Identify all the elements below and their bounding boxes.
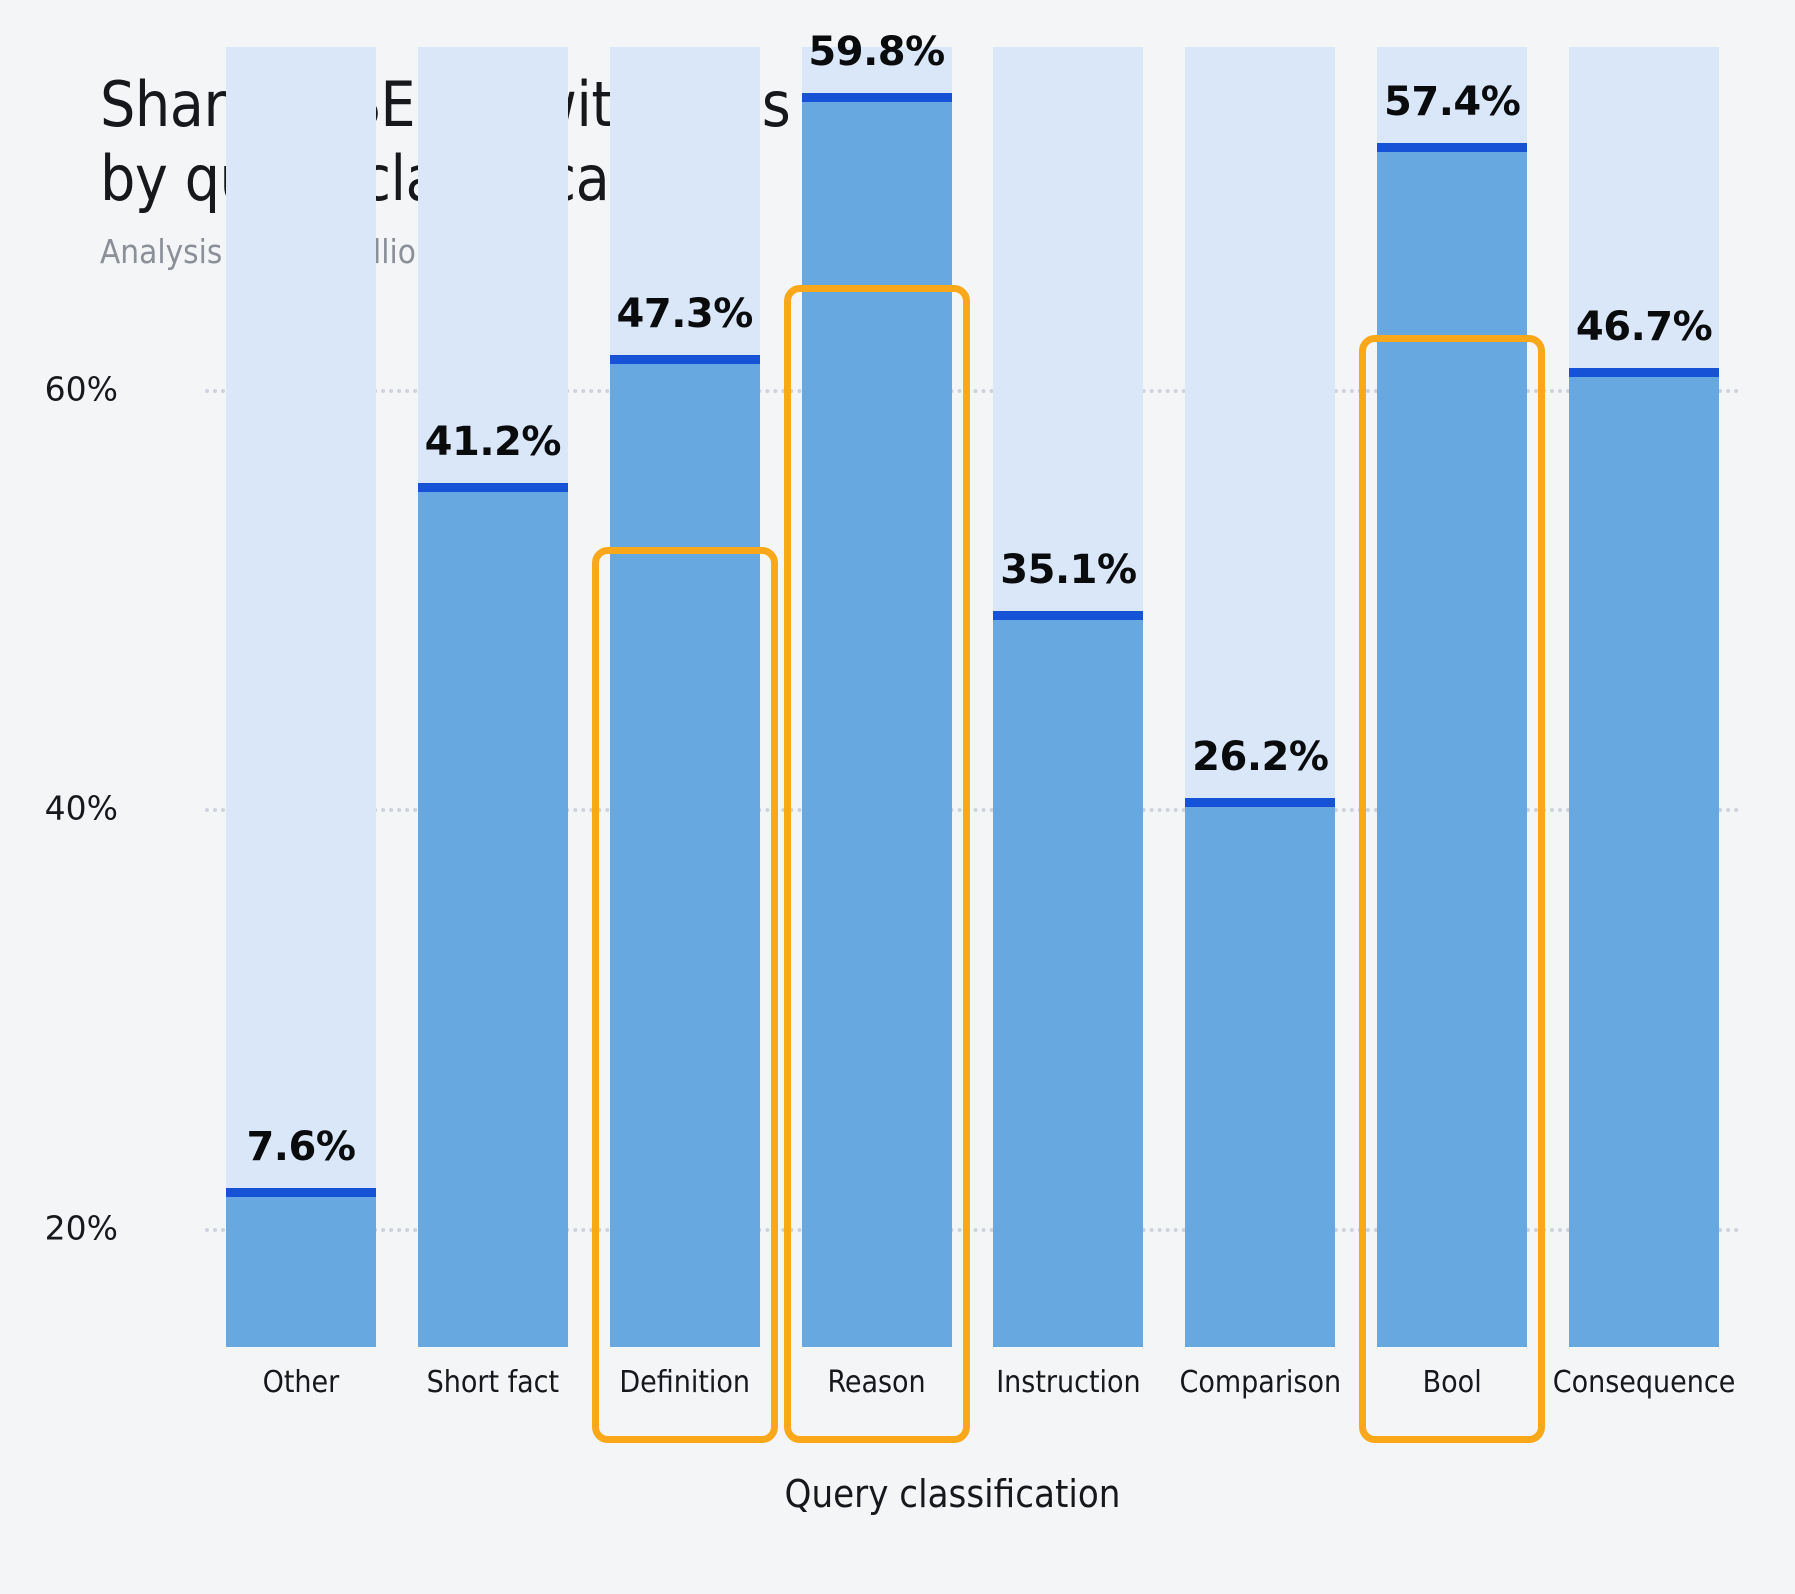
x-axis-label: Definition — [589, 1360, 781, 1406]
x-axis-label: Other — [205, 1360, 397, 1406]
x-axis-label-cell: Comparison — [1164, 1360, 1356, 1406]
bar-value-label: 59.8% — [808, 29, 944, 75]
bar-value-label: 57.4% — [1384, 79, 1520, 125]
bar-value-label: 7.6% — [246, 1124, 355, 1170]
bar[interactable] — [802, 93, 952, 1347]
x-axis-label-cell: Bool — [1356, 1360, 1548, 1406]
bar-column-inner: 59.8% — [802, 300, 952, 1347]
x-axis-label: Instruction — [973, 1360, 1165, 1406]
bar-column[interactable]: 47.3% — [589, 300, 781, 1347]
x-axis-title: Query classification — [55, 1472, 1795, 1516]
bar[interactable] — [418, 483, 568, 1347]
bar-column[interactable]: 26.2% — [1164, 300, 1356, 1347]
x-axis-label: Short fact — [397, 1360, 589, 1406]
bar-value-label: 35.1% — [1000, 547, 1136, 593]
y-tick-label-40: 40% — [0, 789, 118, 828]
x-axis-label-cell: Consequence — [1548, 1360, 1740, 1406]
x-axis-label-cell: Definition — [589, 1360, 781, 1406]
bar-column[interactable]: 59.8% — [781, 300, 973, 1347]
bar-column[interactable]: 35.1% — [973, 300, 1165, 1347]
bar[interactable] — [1377, 143, 1527, 1347]
y-tick-label-60: 60% — [0, 369, 118, 408]
bar-column-inner: 7.6% — [226, 300, 376, 1347]
x-axis-label-cell: Instruction — [973, 1360, 1165, 1406]
chart-canvas: Share of SERPs with AIOs by query classi… — [0, 0, 1795, 1594]
bar-column[interactable]: 7.6% — [205, 300, 397, 1347]
bar[interactable] — [1569, 368, 1719, 1347]
x-axis-label: Comparison — [1164, 1360, 1356, 1406]
x-axis-labels: OtherShort factDefinitionReasonInstructi… — [205, 1360, 1740, 1406]
bar-series: 7.6%41.2%47.3%59.8%35.1%26.2%57.4%46.7% — [205, 300, 1740, 1347]
x-axis-label-cell: Reason — [781, 1360, 973, 1406]
x-axis-label: Consequence — [1548, 1360, 1740, 1406]
x-axis-label: Reason — [781, 1360, 973, 1406]
x-axis-label-cell: Other — [205, 1360, 397, 1406]
bar-column-inner: 41.2% — [418, 300, 568, 1347]
bar[interactable] — [226, 1188, 376, 1347]
bar-column-inner: 46.7% — [1569, 300, 1719, 1347]
bar-value-label: 41.2% — [425, 419, 561, 465]
x-axis-label: Bool — [1356, 1360, 1548, 1406]
bar-value-label: 47.3% — [617, 291, 753, 337]
bar-column[interactable]: 46.7% — [1548, 300, 1740, 1347]
plot-area: 60%40%20%0% 7.6%41.2%47.3%59.8%35.1%26.2… — [205, 300, 1740, 1347]
bar[interactable] — [610, 355, 760, 1347]
y-tick-label-20: 20% — [0, 1208, 118, 1247]
bar-value-label: 46.7% — [1576, 304, 1712, 350]
bar[interactable] — [1185, 798, 1335, 1347]
bar-value-label: 26.2% — [1192, 734, 1328, 780]
bar-column-inner: 47.3% — [610, 300, 760, 1347]
bar-column[interactable]: 57.4% — [1356, 300, 1548, 1347]
bar[interactable] — [993, 611, 1143, 1347]
bar-column-inner: 26.2% — [1185, 300, 1335, 1347]
bar-column[interactable]: 41.2% — [397, 300, 589, 1347]
bar-column-inner: 57.4% — [1377, 300, 1527, 1347]
x-axis-label-cell: Short fact — [397, 1360, 589, 1406]
bar-column-inner: 35.1% — [993, 300, 1143, 1347]
